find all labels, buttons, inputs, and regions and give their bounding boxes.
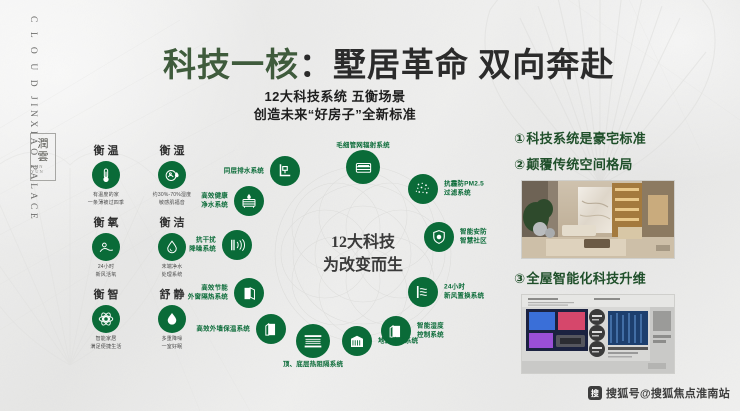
feature-caption-1: 智能家居	[78, 336, 134, 344]
smart-home-showroom-photo	[521, 294, 675, 374]
feature-caption-2: 一条薄被过四季	[78, 200, 134, 208]
wheel-node-6[interactable]: 顶、底层热阻隔系统	[296, 324, 330, 358]
feature-title: 衡智	[81, 286, 134, 302]
feature-caption-1: 24小时	[78, 264, 134, 272]
right-item-text: 科技系统是豪宅标准	[526, 131, 646, 146]
wheel-node-11[interactable]: 同层排水系统	[270, 156, 300, 186]
feature-grid: 衡温 有温度的家 一条薄被过四季 衡湿 约3	[78, 142, 200, 358]
watermark: 搜 搜狐号@搜狐焦点淮南站	[588, 385, 730, 401]
right-item-0: ①科技系统是豪宅标准	[514, 128, 726, 147]
wheel-node-label: 智能安防 智慧社区	[460, 228, 487, 247]
right-item-2: ③全屋智能化科技升维	[514, 268, 726, 287]
smart-atom-icon	[92, 305, 120, 333]
right-item-1: ②颠覆传统空间格局	[514, 154, 726, 173]
wheel-node-5[interactable]: 地源热泵系统	[342, 326, 372, 356]
sohu-badge-icon: 搜	[588, 386, 602, 400]
drainage-icon	[270, 156, 300, 186]
wheel-node-0[interactable]: 毛细管网辐射系统	[346, 150, 380, 184]
wheel-node-9[interactable]: 抗干扰 降噪系统	[222, 230, 252, 260]
technology-wheel: 12大科技 为改变而生 毛细管网辐射系统	[236, 136, 490, 372]
right-panel: ①科技系统是豪宅标准 ②颠覆传统空间格局	[514, 128, 726, 383]
label-line-1: 24小时	[444, 283, 484, 292]
feature-item-0: 衡温 有温度的家 一条薄被过四季	[78, 142, 134, 207]
feature-caption-1: 有温度的家	[78, 192, 134, 200]
feature-caption-2: 新风活氧	[78, 272, 134, 280]
feature-item-4: 衡智 智能家居 满足便捷生活	[78, 286, 134, 351]
window-insulation-icon	[234, 278, 264, 308]
wheel-node-3[interactable]: 24小时 新风置换系统	[408, 277, 438, 307]
wheel-node-label: 智能湿度 控制系统	[417, 322, 444, 341]
fresh-air-icon	[408, 277, 438, 307]
label-line-1: 高效节能	[188, 284, 228, 293]
label-line-2: 智慧社区	[460, 237, 487, 246]
label-line-2: 净水系统	[201, 201, 228, 210]
wheel-node-1[interactable]: 抗霾防PM2.5 过滤系统	[408, 174, 438, 204]
wheel-node-7[interactable]: 高效外墙保温系统	[256, 314, 286, 344]
page-title-rest: ：墅居革命 双向奔赴	[299, 48, 614, 84]
label-line-2: 控制系统	[417, 331, 444, 340]
wheel-node-label: 24小时 新风置换系统	[444, 283, 484, 302]
brand-logo-subtext: RUN YUN	[31, 165, 55, 174]
wheel-node-label: 同层排水系统	[224, 166, 264, 175]
wheel-node-label: 抗干扰 降噪系统	[189, 236, 216, 255]
feature-caption-2: 敏感肌福音	[144, 200, 200, 208]
radiant-panel-icon	[346, 150, 380, 184]
wheel-node-label: 抗霾防PM2.5 过滤系统	[444, 180, 484, 199]
wheel-node-label: 毛细管网辐射系统	[336, 141, 390, 150]
water-drop-icon	[158, 233, 186, 261]
luxury-lobby-photo	[521, 180, 675, 259]
heat-pump-icon	[342, 326, 372, 356]
page-title-green: 科技一核	[163, 48, 299, 84]
label-line-1: 高效健康	[201, 192, 228, 201]
right-item-number: ③	[514, 271, 525, 286]
oxygen-icon	[92, 233, 120, 261]
feature-row: 衡智 智能家居 满足便捷生活 舒静	[78, 286, 200, 351]
right-item-text: 颠覆传统空间格局	[526, 157, 632, 172]
feature-row: 衡氧 24小时 新风活氧 衡洁 末端净水 处理系统	[78, 214, 200, 279]
watermark-text: 搜狐号@搜狐焦点淮南站	[606, 385, 730, 401]
feature-title: 衡洁	[147, 214, 200, 230]
wheel-node-label: 高效外墙保温系统	[196, 324, 250, 333]
thermal-barrier-icon	[296, 324, 330, 358]
noise-reduction-icon	[222, 230, 252, 260]
thermometer-icon	[92, 161, 120, 189]
feature-title: 衡氧	[81, 214, 134, 230]
label-line-1: 抗霾防PM2.5	[444, 180, 484, 189]
page-title: 科技一核：墅居革命 双向奔赴	[163, 38, 614, 86]
feature-caption-1: 多重降噪	[144, 336, 200, 344]
feature-title: 衡温	[81, 142, 134, 158]
feature-caption-2: 处理系统	[144, 272, 200, 280]
poster-canvas: C L O U D JINXIAO PALACE 潤 雲 RUN YUN 科技一…	[0, 0, 740, 411]
wheel-node-label: 高效健康 净水系统	[201, 192, 228, 211]
subtitle-line-1: 12大科技系统 五衡场景	[155, 86, 515, 105]
subtitle-line-2: 创造未来“好房子”全新标准	[155, 104, 515, 123]
brand-logo: 潤 雲 RUN YUN	[30, 133, 56, 181]
wheel-node-label: 高效节能 外窗隔热系统	[188, 284, 228, 303]
wheel-node-2[interactable]: 智能安防 智慧社区	[424, 222, 454, 252]
feature-caption-1: 约30%-70%湿度	[144, 192, 200, 200]
label-line-1: 智能安防	[460, 228, 487, 237]
wheel-node-label: 顶、底层热阻隔系统	[283, 360, 343, 369]
wheel-node-10[interactable]: 高效健康 净水系统	[234, 186, 264, 216]
feature-caption-1: 末端净水	[144, 264, 200, 272]
quiet-drop-icon	[158, 305, 186, 333]
feature-item-2: 衡氧 24小时 新风活氧	[78, 214, 134, 279]
wall-insulation-icon	[256, 314, 286, 344]
label-line-2: 外窗隔热系统	[188, 293, 228, 302]
label-line-1: 智能湿度	[417, 322, 444, 331]
label-line-1: 抗干扰	[189, 236, 216, 245]
wheel-center-text: 12大科技 为改变而生	[323, 231, 403, 277]
feature-title: 衡湿	[147, 142, 200, 158]
right-item-number: ①	[514, 131, 525, 146]
wheel-center-line-2: 为改变而生	[323, 254, 403, 277]
feature-caption-2: 一室好眠	[144, 344, 200, 352]
right-item-text: 全屋智能化科技升维	[526, 271, 646, 286]
feature-row: 衡温 有温度的家 一条薄被过四季 衡湿 约3	[78, 142, 200, 207]
security-icon	[424, 222, 454, 252]
wheel-node-8[interactable]: 高效节能 外窗隔热系统	[234, 278, 264, 308]
brand-vertical-text: C L O U D JINXIAO PALACE	[28, 16, 38, 223]
wheel-center-line-1: 12大科技	[323, 231, 403, 254]
humidity-icon	[158, 161, 186, 189]
brand-logo-char-2: 雲	[38, 152, 49, 164]
feature-caption-2: 满足便捷生活	[78, 344, 134, 352]
right-item-number: ②	[514, 157, 525, 172]
brand-logo-char-1: 潤	[38, 139, 49, 151]
label-line-2: 过滤系统	[444, 189, 484, 198]
brand-line-1: C L O U D	[28, 16, 38, 90]
wheel-node-label: 地源热泵系统	[378, 336, 418, 345]
label-line-2: 新风置换系统	[444, 292, 484, 301]
water-purify-icon	[234, 186, 264, 216]
label-line-1: 地源热泵系统	[378, 336, 418, 345]
particle-filter-icon	[408, 174, 438, 204]
label-line-2: 降噪系统	[189, 245, 216, 254]
feature-item-1: 衡湿 约30%-70%湿度 敏感肌福音	[144, 142, 200, 207]
